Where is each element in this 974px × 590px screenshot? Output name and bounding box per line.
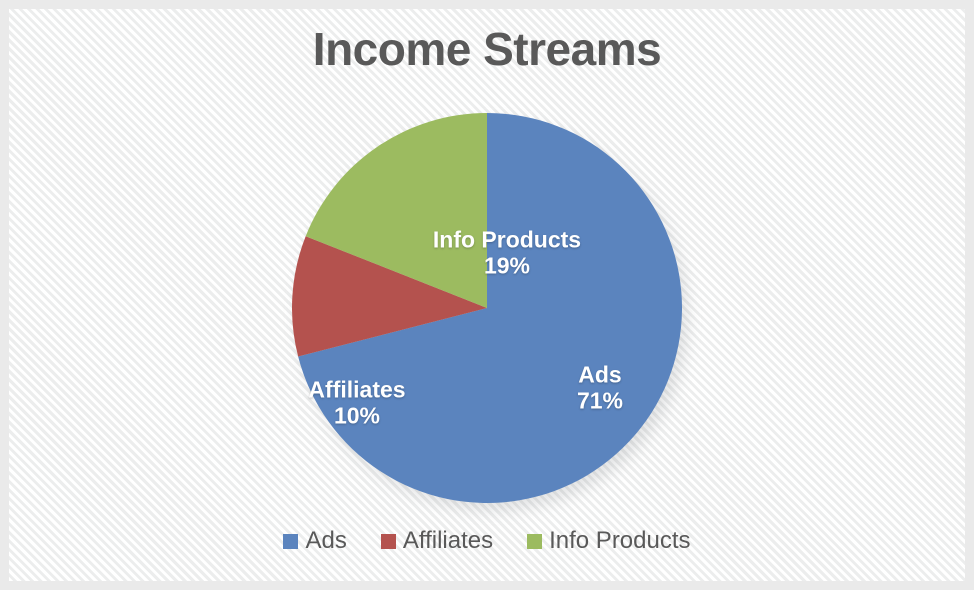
- chart-title: Income Streams: [0, 22, 974, 76]
- legend-item-info-products[interactable]: Info Products: [527, 527, 690, 555]
- chart-legend: Ads Affiliates Info Products: [0, 527, 974, 555]
- legend-swatch-affiliates: [381, 534, 396, 549]
- chart-canvas: Income Streams Info Products 19% Affilia…: [0, 0, 974, 590]
- legend-label-affiliates: Affiliates: [403, 527, 493, 555]
- pie-svg: [292, 113, 682, 503]
- legend-item-ads[interactable]: Ads: [283, 527, 346, 555]
- legend-label-info-products: Info Products: [549, 527, 690, 555]
- legend-swatch-info-products: [527, 534, 542, 549]
- pie-chart: Info Products 19% Affiliates 10% Ads 71%: [292, 113, 682, 503]
- legend-item-affiliates[interactable]: Affiliates: [381, 527, 493, 555]
- legend-swatch-ads: [283, 534, 298, 549]
- legend-label-ads: Ads: [305, 527, 346, 555]
